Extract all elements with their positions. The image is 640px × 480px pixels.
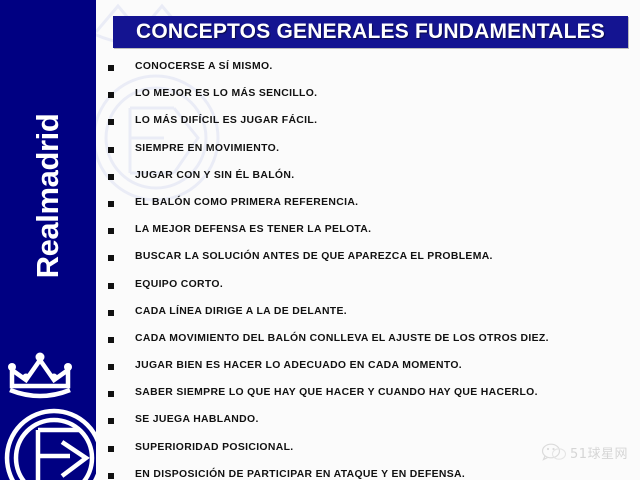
list-item: LO MÁS DIFÍCIL ES JUGAR FÁCIL. <box>108 114 628 141</box>
bullet-square-icon <box>108 201 114 207</box>
bullet-square-icon <box>108 174 114 180</box>
list-item: JUGAR BIEN ES HACER LO ADECUADO EN CADA … <box>108 359 628 386</box>
sidebar-brand-label: Realmadrid <box>30 114 66 279</box>
list-item: SIEMPRE EN MOVIMIENTO. <box>108 142 628 169</box>
bullet-square-icon <box>108 147 114 153</box>
bullet-square-icon <box>108 119 114 125</box>
list-item-label: SABER SIEMPRE LO QUE HAY QUE HACER Y CUA… <box>135 386 538 399</box>
presentation-slide: Realmadrid <box>0 0 640 480</box>
bullet-square-icon <box>108 310 114 316</box>
list-item: SABER SIEMPRE LO QUE HAY QUE HACER Y CUA… <box>108 386 628 413</box>
page-title: CONCEPTOS GENERALES FUNDAMENTALES <box>136 20 605 44</box>
bullet-square-icon <box>108 65 114 71</box>
list-item-label: EQUIPO CORTO. <box>135 278 223 291</box>
list-item: CADA MOVIMIENTO DEL BALÓN CONLLEVA EL AJ… <box>108 332 628 359</box>
list-item: JUGAR CON Y SIN ÉL BALÓN. <box>108 169 628 196</box>
list-item: EQUIPO CORTO. <box>108 278 628 305</box>
list-item-label: BUSCAR LA SOLUCIÓN ANTES DE QUE APAREZCA… <box>135 250 493 263</box>
real-madrid-crest-icon <box>2 346 96 480</box>
bullet-list: CONOCERSE A SÍ MISMO. LO MEJOR ES LO MÁS… <box>108 60 628 480</box>
slide-title-bar: CONCEPTOS GENERALES FUNDAMENTALES <box>113 16 628 48</box>
bullet-square-icon <box>108 92 114 98</box>
list-item-label: SUPERIORIDAD POSICIONAL. <box>135 441 294 454</box>
list-item: CONOCERSE A SÍ MISMO. <box>108 60 628 87</box>
list-item: CADA LÍNEA DIRIGE A LA DE DELANTE. <box>108 305 628 332</box>
bullet-square-icon <box>108 391 114 397</box>
list-item-label: JUGAR BIEN ES HACER LO ADECUADO EN CADA … <box>135 359 462 372</box>
bullet-square-icon <box>108 228 114 234</box>
list-item-label: SE JUEGA HABLANDO. <box>135 413 259 426</box>
bullet-square-icon <box>108 364 114 370</box>
list-item-label: EN DISPOSICIÓN DE PARTICIPAR EN ATAQUE Y… <box>135 468 465 480</box>
bullet-square-icon <box>108 473 114 479</box>
list-item: LO MEJOR ES LO MÁS SENCILLO. <box>108 87 628 114</box>
list-item-label: LO MEJOR ES LO MÁS SENCILLO. <box>135 87 317 100</box>
bullet-square-icon <box>108 255 114 261</box>
sidebar: Realmadrid <box>0 0 96 480</box>
list-item: SE JUEGA HABLANDO. <box>108 413 628 440</box>
list-item-label: LO MÁS DIFÍCIL ES JUGAR FÁCIL. <box>135 114 317 127</box>
list-item-label: LA MEJOR DEFENSA ES TENER LA PELOTA. <box>135 223 371 236</box>
list-item: EN DISPOSICIÓN DE PARTICIPAR EN ATAQUE Y… <box>108 468 628 480</box>
bullet-square-icon <box>108 446 114 452</box>
list-item-label: CADA LÍNEA DIRIGE A LA DE DELANTE. <box>135 305 347 318</box>
bullet-square-icon <box>108 337 114 343</box>
list-item-label: JUGAR CON Y SIN ÉL BALÓN. <box>135 169 294 182</box>
list-item-label: SIEMPRE EN MOVIMIENTO. <box>135 142 279 155</box>
bullet-square-icon <box>108 283 114 289</box>
bullet-square-icon <box>108 418 114 424</box>
list-item-label: CONOCERSE A SÍ MISMO. <box>135 60 273 73</box>
list-item-label: CADA MOVIMIENTO DEL BALÓN CONLLEVA EL AJ… <box>135 332 549 345</box>
list-item: EL BALÓN COMO PRIMERA REFERENCIA. <box>108 196 628 223</box>
list-item: LA MEJOR DEFENSA ES TENER LA PELOTA. <box>108 223 628 250</box>
list-item-label: EL BALÓN COMO PRIMERA REFERENCIA. <box>135 196 358 209</box>
list-item: SUPERIORIDAD POSICIONAL. <box>108 441 628 468</box>
list-item: BUSCAR LA SOLUCIÓN ANTES DE QUE APAREZCA… <box>108 250 628 277</box>
